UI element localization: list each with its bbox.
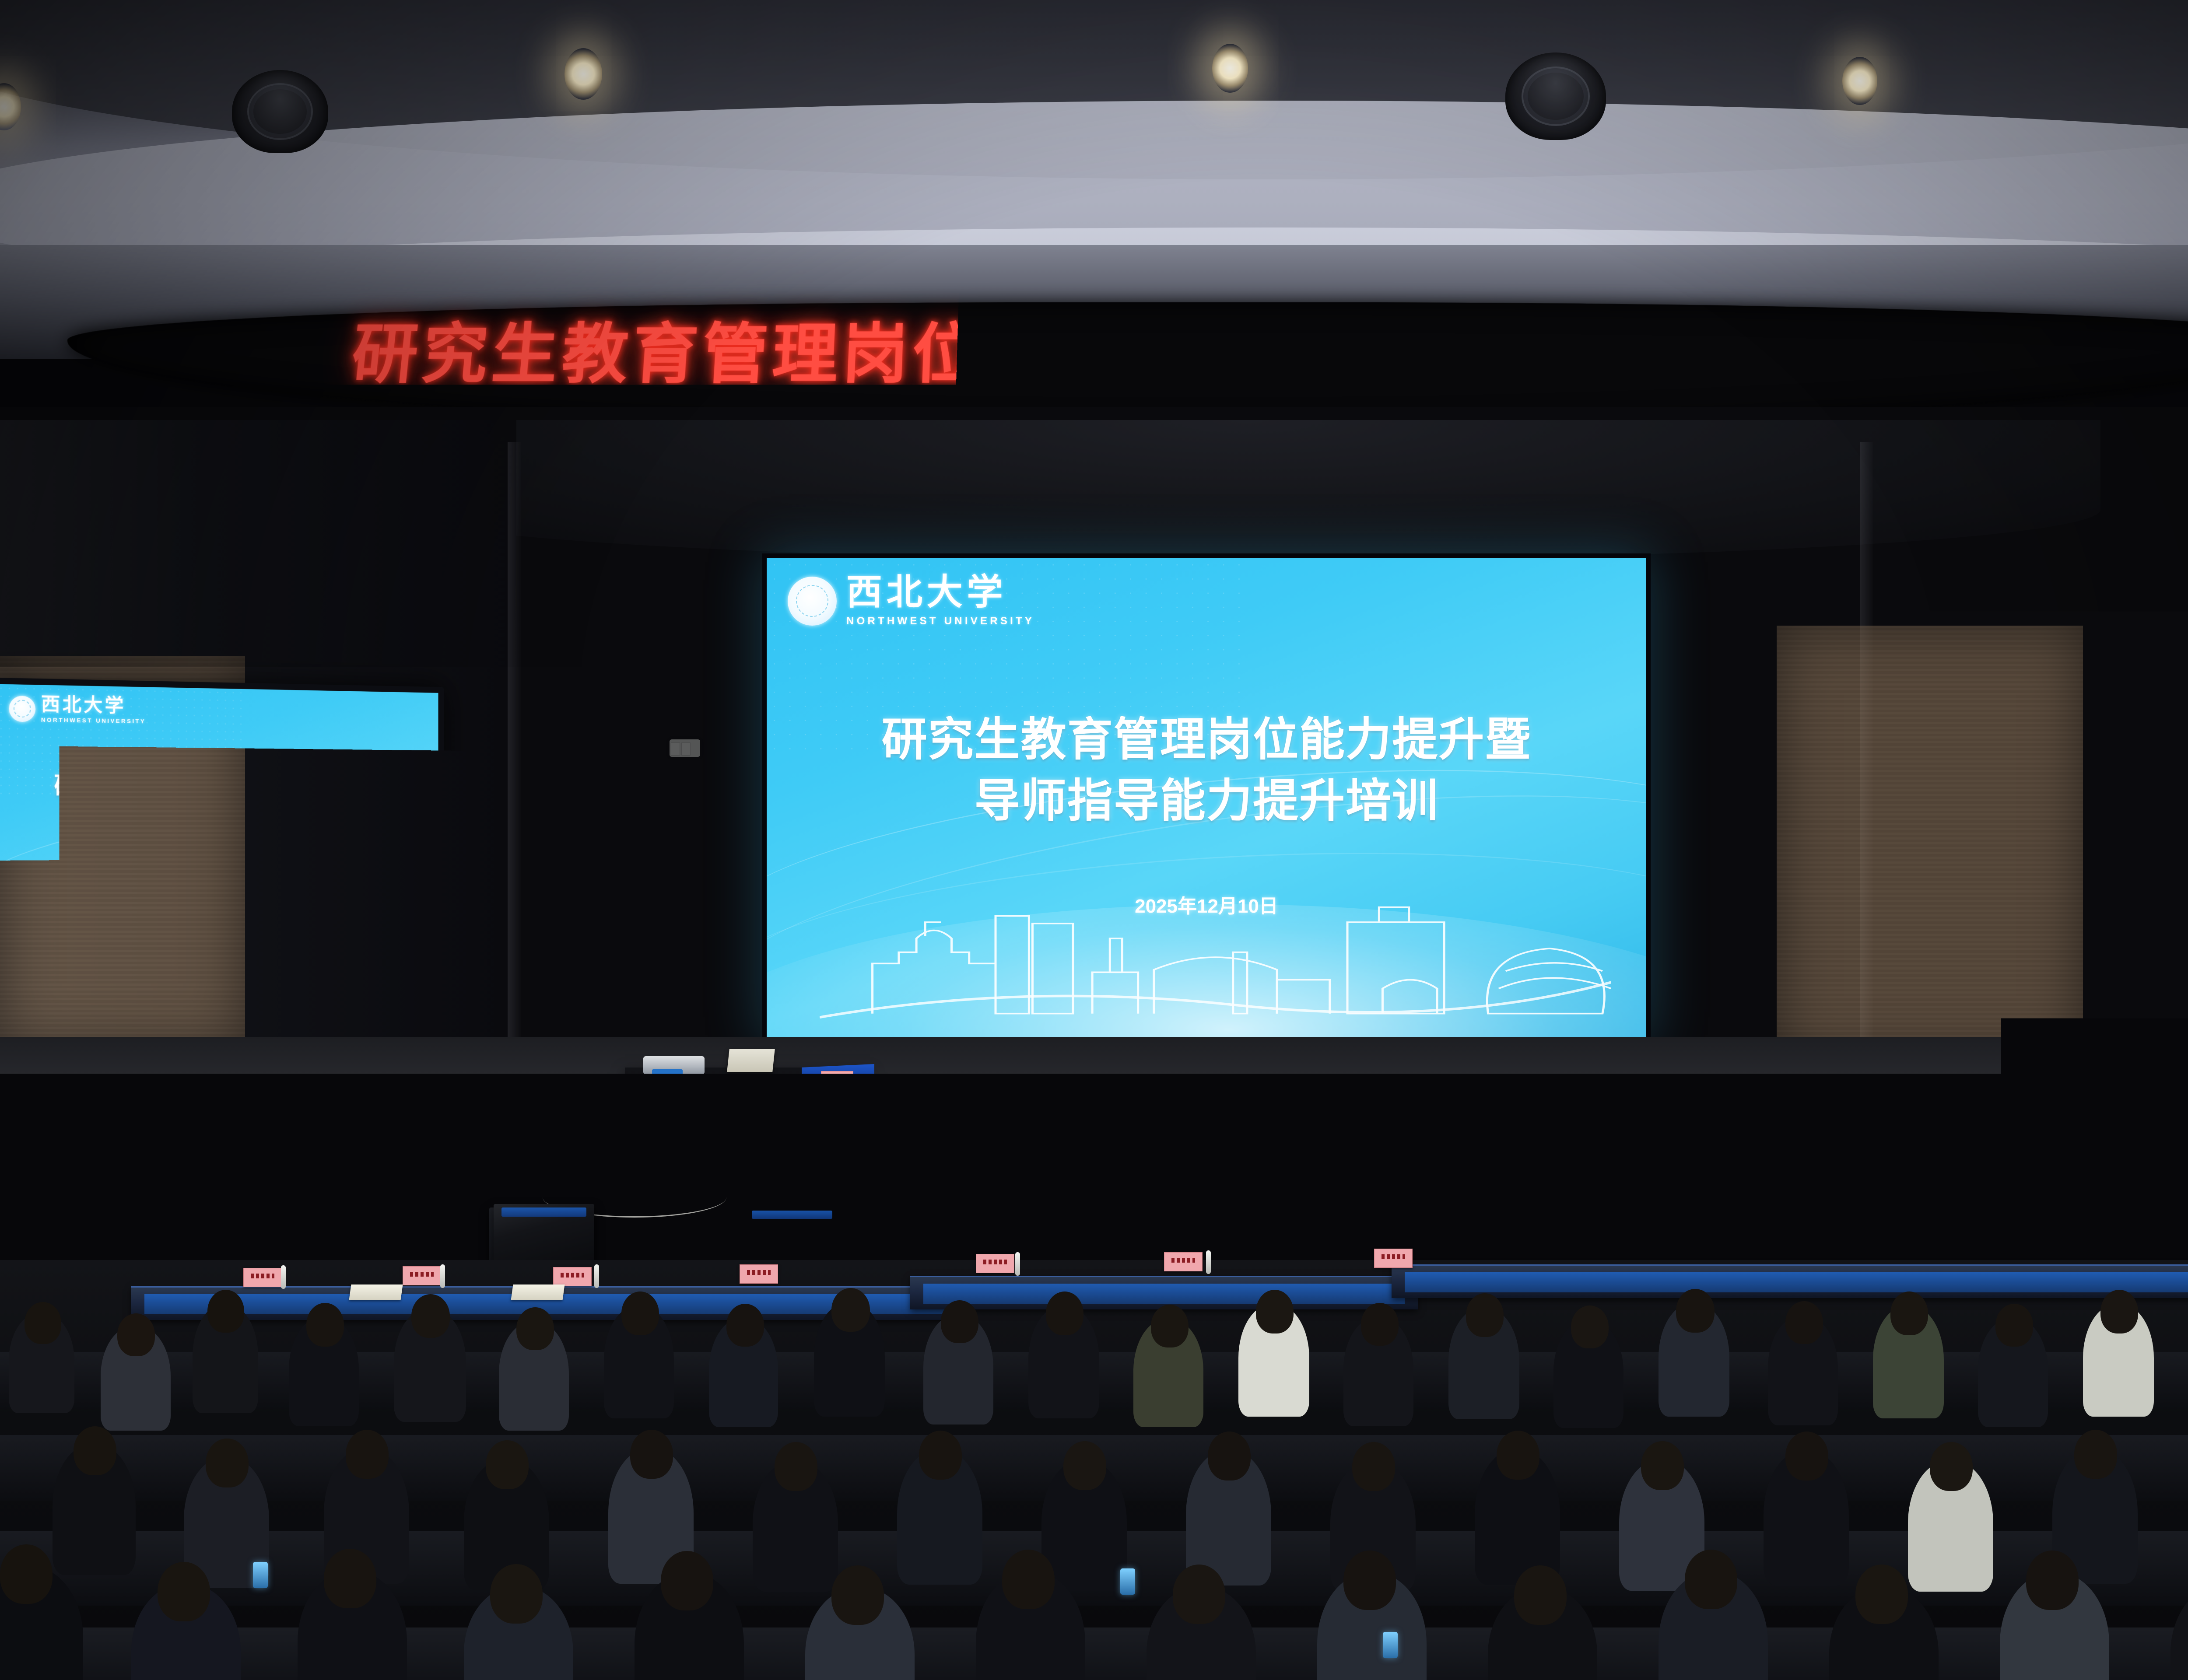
name-card <box>740 1264 778 1284</box>
right-wall-monitor: 西北大学 NORTHWEST UNIVERSITY 研究生教育管理岗位能力提升暨… <box>1949 656 2188 938</box>
smartphone[interactable] <box>1120 1568 1135 1595</box>
attendee-head <box>2026 1550 2079 1610</box>
wall-switch-panel[interactable] <box>670 739 700 757</box>
attendee-head <box>411 1294 450 1338</box>
attendee-head <box>831 1288 870 1332</box>
attendee-head <box>2074 1430 2117 1479</box>
attendee-head <box>0 1544 53 1604</box>
podium-logo-icon <box>403 1048 420 1062</box>
attendee-head <box>1151 1305 1189 1347</box>
desk-microphone[interactable] <box>2026 1236 2031 1260</box>
attendee-head <box>1855 1564 1908 1624</box>
podium-label-cn: 西北大学教师教学发展中心 <box>424 1053 495 1060</box>
attendee-head <box>1571 1305 1609 1348</box>
smartphone[interactable] <box>1383 1632 1398 1658</box>
presenter-hair <box>439 915 485 940</box>
attendee-head <box>726 1304 764 1347</box>
stage-monitor <box>494 1204 594 1261</box>
podium-label: Northwest University Center for Faculty … <box>424 1049 525 1060</box>
attendee-head <box>1890 1291 1928 1335</box>
ceiling <box>0 0 2188 280</box>
desk-microphone[interactable] <box>1015 1252 1020 1276</box>
name-card <box>553 1267 592 1286</box>
attendee-head <box>158 1562 210 1621</box>
university-seal-icon <box>9 695 35 722</box>
stage-monitor <box>1602 1198 1694 1249</box>
subwoofer-left <box>179 1133 354 1229</box>
attendee-head <box>1063 1441 1106 1490</box>
podium-microphone-head <box>507 976 522 991</box>
attendee-head <box>1256 1290 1294 1333</box>
slide-title-line1: 研究生教育管理岗位能力提升暨 <box>767 702 1646 768</box>
av-table-name-card <box>821 1071 853 1083</box>
attendee-head <box>206 1438 249 1487</box>
name-card <box>403 1266 441 1285</box>
desk-microphone[interactable] <box>1742 1243 1746 1267</box>
university-logo: 西北大学 NORTHWEST UNIVERSITY <box>788 574 1034 627</box>
desk-microphone[interactable] <box>1206 1250 1211 1274</box>
name-card <box>1912 1240 1951 1259</box>
attendee-head <box>516 1307 554 1350</box>
attendee-head <box>1676 1289 1715 1333</box>
subwoofer-right <box>2048 1094 2188 1203</box>
attendee-head <box>1785 1301 1823 1344</box>
slide-title-line2: 导师指导能力提升培训 <box>0 799 438 835</box>
attendee-head <box>1785 1431 1828 1480</box>
stage-monitor <box>989 1208 1085 1261</box>
road-case-right <box>1943 1164 2039 1221</box>
attendee-head <box>74 1426 116 1475</box>
attendee-head <box>486 1440 529 1489</box>
attendee-head <box>490 1564 543 1624</box>
ceiling-downlight <box>1212 44 1248 93</box>
desk-microphone[interactable] <box>594 1264 599 1288</box>
av-equipment-blue <box>652 1069 683 1079</box>
university-seal-icon <box>1965 680 1988 704</box>
attendee-head <box>1995 1304 2033 1347</box>
stage-apron-edge <box>88 1249 2188 1260</box>
name-card <box>2052 1237 2091 1256</box>
auditorium-scene: 研究生教育管理岗位能力提升暨导师指导能力提升培训 西北大学 NORTHWEST … <box>0 0 2188 1680</box>
attendee-head <box>621 1291 659 1335</box>
name-card <box>1164 1252 1203 1271</box>
attendee-head <box>1208 1431 1251 1480</box>
notebook <box>349 1284 403 1300</box>
university-logo: 西北大学 NORTHWEST UNIVERSITY <box>1965 678 2082 706</box>
attendee-head <box>1466 1293 1504 1337</box>
attendee-head <box>1352 1442 1395 1491</box>
slide-title-line1: 研究生教育管理岗位能力提升暨 <box>1955 743 2188 778</box>
desk-microphone[interactable] <box>281 1265 286 1289</box>
attendee-head <box>1046 1291 1083 1335</box>
proscenium-pillar-left <box>508 442 521 1037</box>
desk-microphone[interactable] <box>440 1264 445 1288</box>
attendee-head <box>1173 1564 1225 1624</box>
main-projection-screen: 西北大学 NORTHWEST UNIVERSITY 研究生教育管理岗位能力提升暨… <box>762 553 1651 1043</box>
attendee-head <box>306 1303 344 1347</box>
desk-microphone[interactable] <box>1886 1240 1891 1263</box>
notebook <box>1788 1263 1841 1278</box>
name-card <box>1768 1244 1806 1263</box>
left-wall-monitor: 西北大学 NORTHWEST UNIVERSITY 研究生教育管理岗位能力提升暨… <box>0 678 444 967</box>
stage-monitor <box>744 1207 840 1260</box>
ceiling-downlight <box>565 48 602 100</box>
slide-title-line2: 导师指导能力提升培训 <box>767 763 1646 829</box>
attendee-head <box>1641 1441 1684 1490</box>
attendee-head <box>2100 1290 2138 1333</box>
attendee-head <box>630 1430 673 1479</box>
attendee-head <box>1514 1565 1567 1625</box>
notebook <box>1924 1259 1978 1275</box>
desk-panel <box>923 1284 1405 1304</box>
name-card <box>1374 1249 1413 1268</box>
name-card <box>243 1268 282 1287</box>
attendee-head <box>1361 1303 1399 1346</box>
attendee-head <box>1685 1550 1737 1609</box>
city-skyline-graphic <box>25 874 421 948</box>
attendee-head <box>1930 1442 1973 1491</box>
university-logo: 西北大学 NORTHWEST UNIVERSITY <box>9 694 146 725</box>
audience-area <box>0 1260 2188 1680</box>
slide-title-line2: 导师指导能力提升培训 <box>1955 775 2188 809</box>
university-name-cn: 西北大学 <box>1993 678 2082 697</box>
ceiling-speaker <box>1505 52 1606 140</box>
attendee-head <box>207 1290 244 1333</box>
attendee-head <box>1497 1431 1539 1480</box>
attendee-head <box>1343 1550 1396 1610</box>
university-name-en: NORTHWEST UNIVERSITY <box>1993 698 2082 705</box>
stage-monitor <box>1820 1181 1912 1233</box>
attendee-head <box>346 1430 389 1479</box>
led-banner-text: 研究生教育管理岗位能力提升暨导师指导能力提升培训 <box>61 322 2188 387</box>
university-name-cn: 西北大学 <box>41 695 146 715</box>
attendee-head <box>25 1302 61 1344</box>
notebook <box>511 1284 565 1300</box>
university-seal-icon <box>788 577 837 626</box>
attendee-head <box>919 1431 962 1480</box>
attendee-head <box>117 1313 155 1356</box>
attendee-head <box>831 1565 884 1625</box>
attendee-head <box>661 1551 713 1610</box>
ceiling-downlight <box>1842 57 1877 105</box>
university-name-cn: 西北大学 <box>846 574 1034 610</box>
attendee-head <box>941 1300 978 1343</box>
laptop[interactable] <box>727 1049 775 1072</box>
attendee-head <box>324 1549 376 1608</box>
stage-valance <box>394 420 2100 560</box>
attendee-head <box>775 1442 817 1491</box>
university-name-en: NORTHWEST UNIVERSITY <box>846 615 1034 627</box>
ceiling-speaker <box>232 70 328 153</box>
name-card <box>976 1254 1014 1273</box>
smartphone[interactable] <box>253 1562 268 1588</box>
cable <box>647 1081 739 1152</box>
podium-label-en: Northwest University Center for Faculty … <box>424 1049 525 1053</box>
slide-title-line1: 研究生教育管理岗位能力提升暨 <box>0 766 438 803</box>
city-skyline-graphic <box>1980 847 2188 920</box>
city-skyline-graphic <box>820 895 1611 1020</box>
attendee-head <box>1002 1550 1055 1609</box>
